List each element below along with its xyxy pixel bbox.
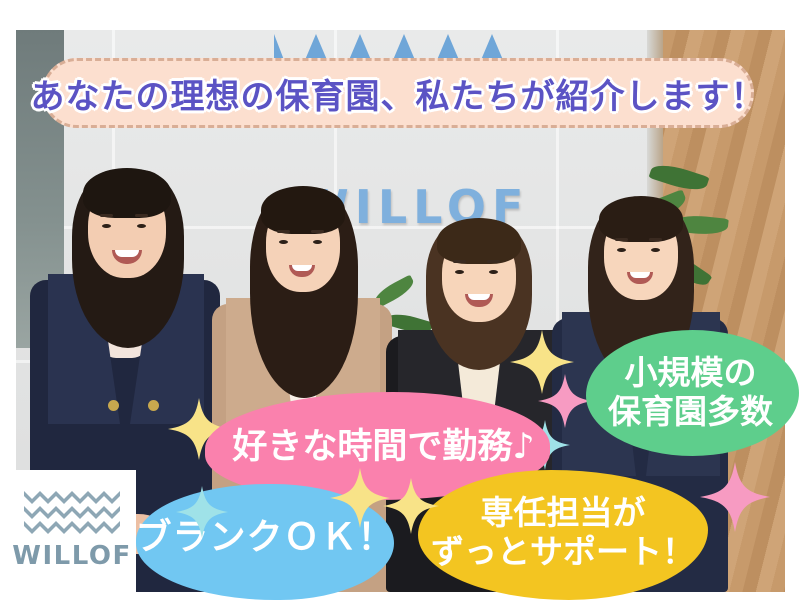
callout-yellow: 専任担当が ずっとサポート！: [418, 470, 708, 600]
willof-logo: WILLOF: [8, 470, 136, 592]
callout-yellow-line-2: ずっとサポート！: [431, 533, 695, 572]
ad-banner-canvas: WILLOF: [0, 0, 800, 600]
callout-green: 小規模の 保育園多数: [586, 330, 799, 456]
logo-wordmark: WILLOF: [12, 541, 131, 571]
headline-text: あなたの理想の保育園、私たちが紹介します！: [31, 69, 766, 118]
sparkle-pink-3-icon: [700, 462, 770, 532]
zigzag-icon: [24, 491, 120, 504]
zigzag-icon: [24, 521, 120, 534]
callout-yellow-line-1: 専任担当が: [431, 494, 695, 533]
zigzag-icon: [24, 506, 120, 519]
sparkle-cyan-1-icon: [176, 486, 228, 538]
callout-pink-line-1: 好きな時間で勤務♪: [232, 427, 534, 468]
sparkle-yellow-4-icon: [383, 478, 439, 534]
sparkle-yellow-2-icon: [330, 468, 390, 528]
callout-green-line-2: 保育園多数: [608, 393, 773, 432]
callout-green-line-1: 小規模の: [608, 354, 773, 393]
headline-banner: あなたの理想の保育園、私たちが紹介します！: [42, 58, 754, 128]
